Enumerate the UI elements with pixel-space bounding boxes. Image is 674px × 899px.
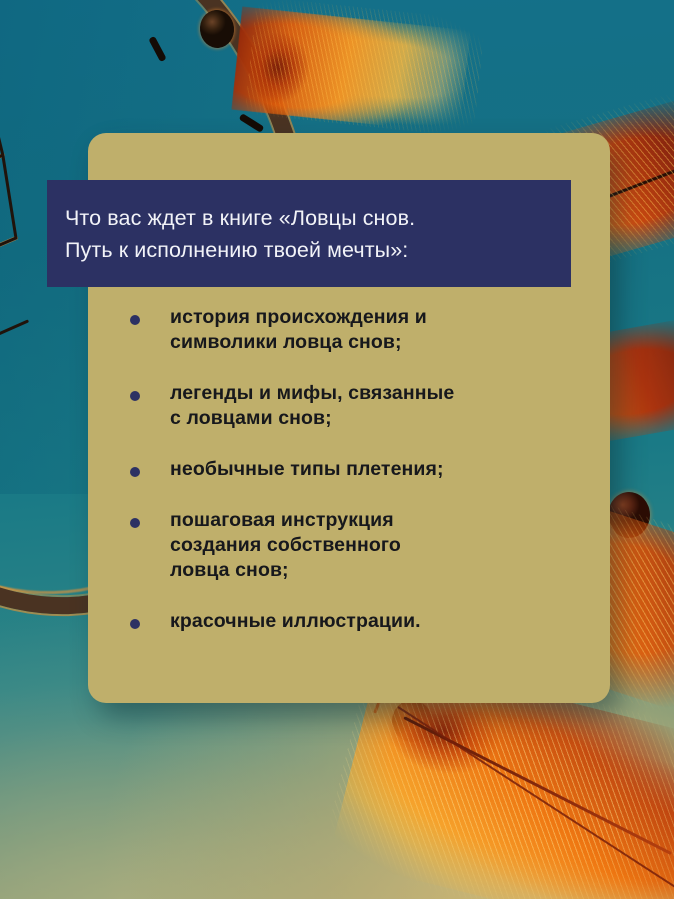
list-item-text: история происхождения и символики ловца … <box>170 305 427 355</box>
list-item-line: необычные типы плетения; <box>170 457 444 482</box>
list-item-line: легенды и мифы, связанные <box>170 381 454 406</box>
header-line-2: Путь к исполнению твоей мечты»: <box>65 234 553 266</box>
list-item-line: история происхождения и <box>170 305 427 330</box>
list-item: пошаговая инструкция создания собственно… <box>130 508 590 583</box>
list-item-line: красочные иллюстрации. <box>170 609 421 634</box>
list-item: история происхождения и символики ловца … <box>130 305 590 355</box>
header-line-1: Что вас ждет в книге «Ловцы снов. <box>65 202 553 234</box>
list-item: необычные типы плетения; <box>130 457 590 482</box>
list-item-text: красочные иллюстрации. <box>170 609 421 634</box>
bullet-dot-icon <box>130 315 140 325</box>
list-item-text: необычные типы плетения; <box>170 457 444 482</box>
list-item-text: легенды и мифы, связанные с ловцами снов… <box>170 381 454 431</box>
bullet-dot-icon <box>130 467 140 477</box>
bullet-dot-icon <box>130 391 140 401</box>
header-band: Что вас ждет в книге «Ловцы снов. Путь к… <box>47 180 571 287</box>
bullet-dot-icon <box>130 619 140 629</box>
feature-list: история происхождения и символики ловца … <box>130 305 590 660</box>
list-item: красочные иллюстрации. <box>130 609 590 634</box>
list-item-line: пошаговая инструкция <box>170 508 401 533</box>
list-item-text: пошаговая инструкция создания собственно… <box>170 508 401 583</box>
list-item-line: ловца снов; <box>170 558 401 583</box>
bullet-dot-icon <box>130 518 140 528</box>
list-item-line: символики ловца снов; <box>170 330 427 355</box>
list-item-line: создания собственного <box>170 533 401 558</box>
list-item: легенды и мифы, связанные с ловцами снов… <box>130 381 590 431</box>
slide-canvas: Что вас ждет в книге «Ловцы снов. Путь к… <box>0 0 674 899</box>
feather-top-barbs <box>244 0 485 138</box>
list-item-line: с ловцами снов; <box>170 406 454 431</box>
